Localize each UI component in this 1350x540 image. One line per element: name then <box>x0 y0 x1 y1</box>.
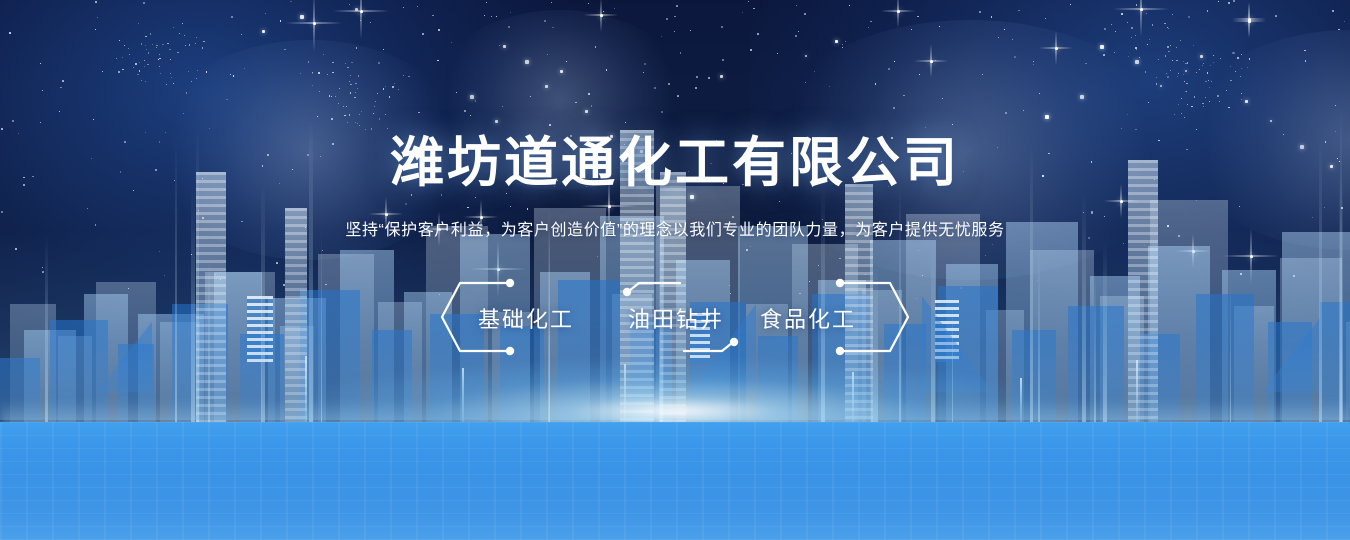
middle-bottom-dot <box>730 338 738 346</box>
middle-top-line-icon <box>629 283 680 291</box>
middle-bottom-line-icon <box>684 343 732 351</box>
middle-top-dot <box>623 288 631 296</box>
left-bracket-dot-bottom <box>506 347 514 355</box>
page-subtitle: 坚持“保护客户利益，为客户创造价值”的理念以我们专业的团队力量，为客户提供无忧服… <box>345 216 1004 240</box>
tag-group: 基础化工 油田钻井 食品化工 <box>440 278 910 358</box>
tag-item-oilfield-drilling[interactable]: 油田钻井 <box>628 302 724 334</box>
tag-item-food-chemical[interactable]: 食品化工 <box>760 302 856 334</box>
right-bracket-dot-bottom <box>836 347 844 355</box>
page-title: 潍坊道通化工有限公司 <box>390 136 960 190</box>
tag-item-basic-chemical[interactable]: 基础化工 <box>478 302 574 334</box>
hero-banner: 潍坊道通化工有限公司 坚持“保护客户利益，为客户创造价值”的理念以我们专业的团队… <box>0 0 1350 540</box>
left-bracket-dot-top <box>506 279 514 287</box>
banner-content: 潍坊道通化工有限公司 坚持“保护客户利益，为客户创造价值”的理念以我们专业的团队… <box>0 0 1350 540</box>
right-bracket-dot-top <box>836 279 844 287</box>
